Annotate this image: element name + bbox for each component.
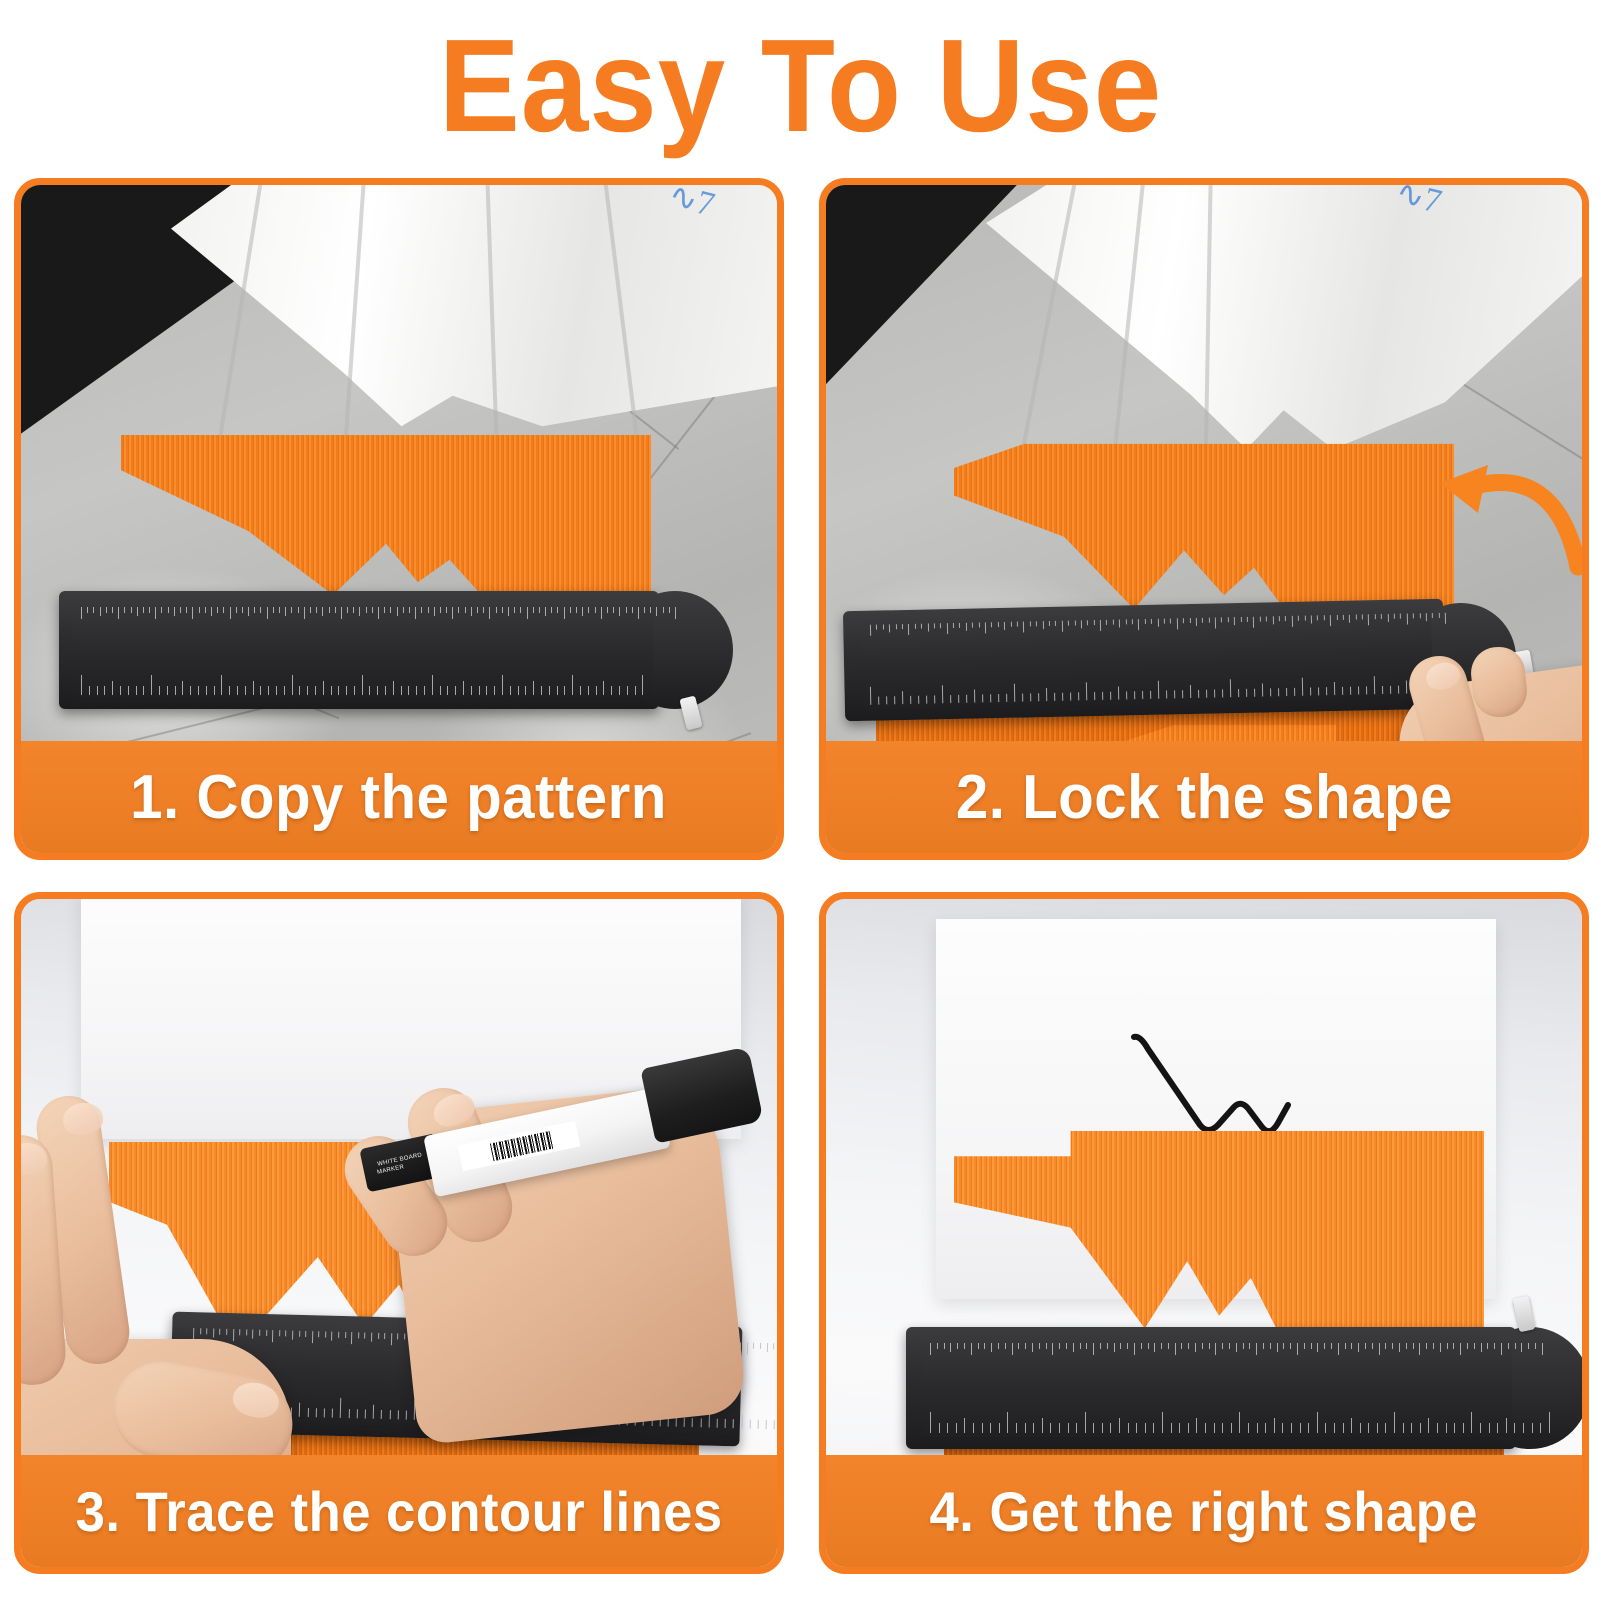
page-title: Easy To Use (64, 20, 1537, 152)
ruler-ticks-inch (930, 1343, 1500, 1359)
step-3-caption: 3. Trace the contour lines (21, 1455, 777, 1567)
steps-grid: ∿7 (14, 178, 1589, 1574)
rotation-arrow-icon (1426, 437, 1582, 627)
step-1-photo: ∿7 (21, 185, 777, 853)
step-3-caption-text: 3. Trace the contour lines (75, 1479, 722, 1544)
step-panel-1: ∿7 (14, 178, 784, 860)
ruler-ticks-inch (81, 607, 641, 623)
step-2-caption: 2. Lock the shape (826, 741, 1582, 853)
ruler-ticks-cm (81, 671, 641, 695)
step-panel-2: ∿7 (819, 178, 1589, 860)
step-3-photo: WHITE BOARD MARKER 3. Trace the contour … (21, 899, 777, 1567)
step-4-caption-text: 4. Get the right shape (930, 1479, 1479, 1544)
step-2-caption-text: 2. Lock the shape (955, 762, 1452, 833)
step-4-photo: 4. Get the right shape (826, 899, 1582, 1567)
ruler-ticks-cm (930, 1407, 1500, 1433)
infographic-root: Easy To Use ∿7 (0, 0, 1601, 1601)
step-panel-3: WHITE BOARD MARKER 3. Trace the contour … (14, 892, 784, 1574)
step-4-caption: 4. Get the right shape (826, 1455, 1582, 1567)
step-panel-4: 4. Get the right shape (819, 892, 1589, 1574)
step-1-caption: 1. Copy the pattern (21, 741, 777, 853)
step-1-caption-text: 1. Copy the pattern (131, 762, 668, 833)
step-2-photo: ∿7 (826, 185, 1582, 853)
